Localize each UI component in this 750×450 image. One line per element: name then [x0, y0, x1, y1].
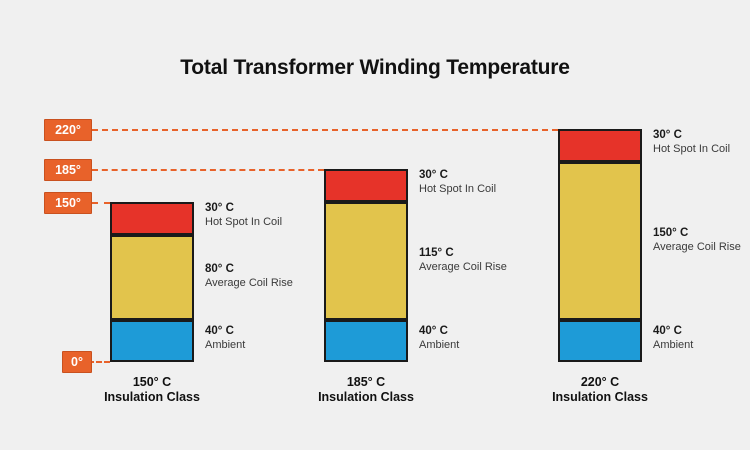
segment-value: 30° C: [205, 201, 282, 215]
bar-segment-average-coil-rise: [110, 235, 194, 320]
page-title: Total Transformer Winding Temperature: [0, 56, 750, 80]
bar-segment-ambient: [558, 320, 642, 362]
segment-label-ambient: 40° C Ambient: [205, 324, 245, 353]
segment-label-average-coil-rise: 80° C Average Coil Rise: [205, 262, 293, 291]
segment-description: Average Coil Rise: [205, 276, 293, 291]
axis-badge-150: 150°: [44, 192, 92, 214]
segment-value: 40° C: [205, 324, 245, 338]
segment-description: Hot Spot In Coil: [653, 142, 730, 157]
segment-label-average-coil-rise: 115° C Average Coil Rise: [419, 246, 507, 275]
segment-label-hot-spot: 30° C Hot Spot In Coil: [419, 168, 496, 197]
category-label-185: 185° C Insulation Class: [296, 375, 436, 405]
segment-description: Hot Spot In Coil: [419, 182, 496, 197]
segment-description: Average Coil Rise: [419, 260, 507, 275]
category-line-2: Insulation Class: [530, 390, 670, 405]
axis-badge-220: 220°: [44, 119, 92, 141]
bar-segment-average-coil-rise: [324, 202, 408, 320]
bar-segment-average-coil-rise: [558, 162, 642, 320]
category-line-1: 185° C: [296, 375, 436, 390]
chart-root: Total Transformer Winding Temperature 22…: [0, 0, 750, 450]
segment-description: Ambient: [205, 338, 245, 353]
category-line-1: 150° C: [82, 375, 222, 390]
segment-description: Ambient: [653, 338, 693, 353]
category-label-220: 220° C Insulation Class: [530, 375, 670, 405]
category-line-2: Insulation Class: [296, 390, 436, 405]
threshold-line-150: [92, 202, 110, 204]
segment-value: 40° C: [653, 324, 693, 338]
segment-description: Average Coil Rise: [653, 240, 741, 255]
segment-description: Ambient: [419, 338, 459, 353]
bar-segment-hot-spot: [110, 202, 194, 235]
segment-label-average-coil-rise: 150° C Average Coil Rise: [653, 226, 741, 255]
segment-label-hot-spot: 30° C Hot Spot In Coil: [205, 201, 282, 230]
bar-segment-ambient: [324, 320, 408, 362]
category-line-1: 220° C: [530, 375, 670, 390]
segment-label-ambient: 40° C Ambient: [653, 324, 693, 353]
segment-value: 30° C: [653, 128, 730, 142]
bar-segment-ambient: [110, 320, 194, 362]
segment-description: Hot Spot In Coil: [205, 215, 282, 230]
axis-badge-185: 185°: [44, 159, 92, 181]
segment-label-hot-spot: 30° C Hot Spot In Coil: [653, 128, 730, 157]
segment-value: 30° C: [419, 168, 496, 182]
bar-segment-hot-spot: [558, 129, 642, 162]
threshold-line-220: [92, 129, 558, 131]
category-line-2: Insulation Class: [82, 390, 222, 405]
bar-segment-hot-spot: [324, 169, 408, 202]
segment-value: 150° C: [653, 226, 741, 240]
segment-value: 80° C: [205, 262, 293, 276]
category-label-150: 150° C Insulation Class: [82, 375, 222, 405]
segment-value: 40° C: [419, 324, 459, 338]
axis-badge-0: 0°: [62, 351, 92, 373]
threshold-line-185: [92, 169, 324, 171]
segment-label-ambient: 40° C Ambient: [419, 324, 459, 353]
segment-value: 115° C: [419, 246, 507, 260]
